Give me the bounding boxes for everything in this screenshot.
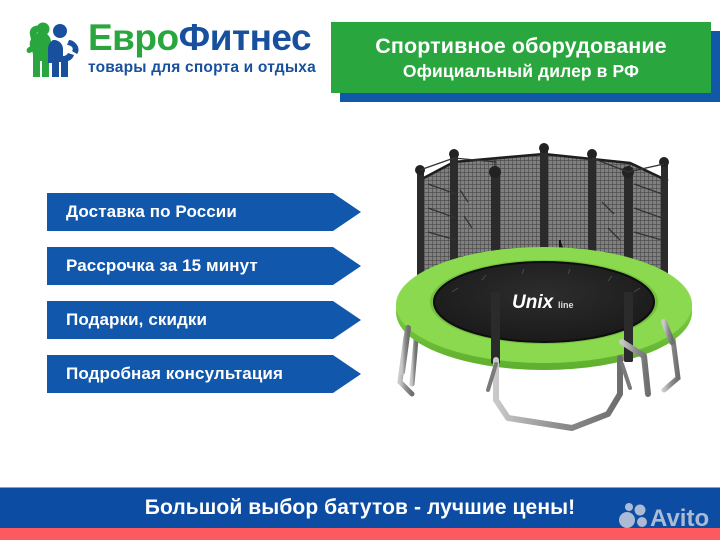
header-banner-body: Спортивное оборудование Официальный диле… <box>331 22 711 93</box>
feature-label-2: Рассрочка за 15 минут <box>47 256 258 276</box>
footer-banner-text: Большой выбор батутов - лучшие цены! <box>145 496 576 520</box>
product-image-trampoline[interactable]: Unix line <box>372 132 712 462</box>
two-fitness-figures-icon <box>24 20 86 80</box>
feature-arrow-3[interactable]: Подарки, скидки <box>47 301 361 339</box>
feature-label-1: Доставка по России <box>47 202 237 222</box>
header-banner-line1: Спортивное оборудование <box>375 33 666 60</box>
avito-dots-icon <box>619 503 647 528</box>
brand-name: ЕвроФитнес <box>88 16 328 60</box>
brand-tagline: товары для спорта и отдыха <box>88 59 328 77</box>
brand-name-blue: Фитнес <box>179 17 311 58</box>
header-banner-line2: Официальный дилер в РФ <box>403 60 639 83</box>
feature-label-3: Подарки, скидки <box>47 310 207 330</box>
footer-banner: Большой выбор батутов - лучшие цены! <box>0 488 720 528</box>
header-banner: Спортивное оборудование Официальный диле… <box>331 22 720 102</box>
promo-banner-canvas: ЕвроФитнес товары для спорта и отдыха Сп… <box>0 0 720 540</box>
svg-text:line: line <box>558 300 574 310</box>
feature-arrow-2[interactable]: Рассрочка за 15 минут <box>47 247 361 285</box>
feature-list: Доставка по России Рассрочка за 15 минут… <box>47 193 367 398</box>
brand-logo[interactable]: ЕвроФитнес товары для спорта и отдыха <box>24 16 324 90</box>
brand-name-green: Евро <box>88 17 179 58</box>
feature-label-4: Подробная консультация <box>47 364 283 384</box>
footer-red-stripe <box>0 528 720 540</box>
feature-arrow-4[interactable]: Подробная консультация <box>47 355 361 393</box>
feature-arrow-1[interactable]: Доставка по России <box>47 193 361 231</box>
product-mat-logo: Unix <box>512 292 555 313</box>
brand-wordmark: ЕвроФитнес товары для спорта и отдыха <box>88 16 328 77</box>
